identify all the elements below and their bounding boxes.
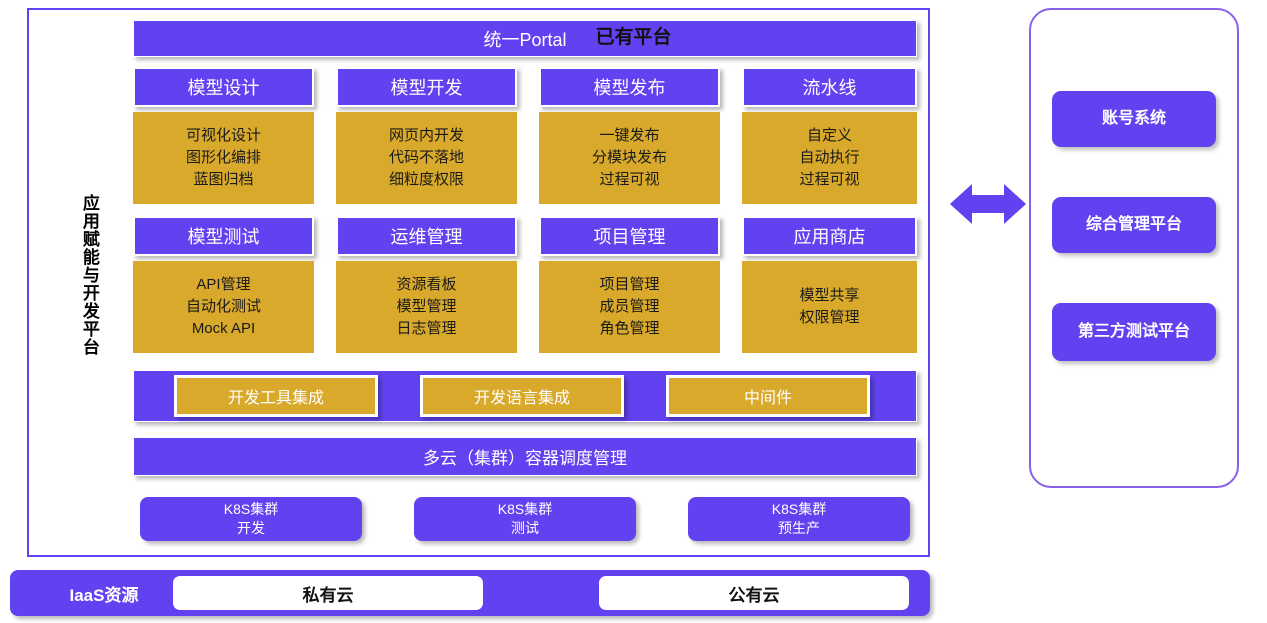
k8s-line-1: K8S集群: [772, 500, 826, 519]
public-cloud-box[interactable]: 公有云: [599, 576, 909, 610]
card-item: 成员管理: [599, 296, 659, 318]
integration-label: 中间件: [744, 384, 792, 408]
k8s-cluster-test[interactable]: K8S集群 测试: [414, 497, 636, 541]
card-header-pipeline[interactable]: 流水线: [742, 67, 917, 107]
card-header-project-mgmt[interactable]: 项目管理: [539, 216, 720, 256]
cloud-label: 私有云: [303, 581, 354, 606]
card-header-model-release[interactable]: 模型发布: [539, 67, 720, 107]
card-header-model-design[interactable]: 模型设计: [133, 67, 314, 107]
platform-label: 第三方测试平台: [1078, 322, 1190, 342]
cloud-label: 公有云: [729, 581, 780, 606]
card-item: 角色管理: [599, 318, 659, 340]
card-title: 流水线: [803, 74, 857, 100]
platform-account-system[interactable]: 账号系统: [1052, 91, 1216, 147]
integration-dev-tools[interactable]: 开发工具集成: [174, 375, 378, 417]
k8s-line-1: K8S集群: [498, 500, 552, 519]
multicloud-label: 多云（集群）容器调度管理: [423, 444, 627, 469]
iaas-label: IaaS资源: [44, 570, 164, 616]
card-item: 图形化编排: [186, 147, 261, 169]
k8s-line-2: 开发: [237, 519, 265, 538]
platform-integrated-mgmt[interactable]: 综合管理平台: [1052, 197, 1216, 253]
card-item: 分模块发布: [592, 147, 667, 169]
card-body-model-release: 一键发布 分模块发布 过程可视: [539, 112, 720, 204]
integration-label: 开发工具集成: [228, 384, 324, 408]
card-title: 应用商店: [794, 223, 866, 249]
card-item: 细粒度权限: [389, 169, 464, 191]
card-body-ops-mgmt: 资源看板 模型管理 日志管理: [336, 261, 517, 353]
double-arrow-icon: [950, 180, 1026, 228]
platform-third-party-test[interactable]: 第三方测试平台: [1052, 303, 1216, 361]
card-body-model-design: 可视化设计 图形化编排 蓝图归档: [133, 112, 314, 204]
card-item: 代码不落地: [389, 147, 464, 169]
k8s-cluster-dev[interactable]: K8S集群 开发: [140, 497, 362, 541]
card-title: 运维管理: [391, 223, 463, 249]
card-body-model-develop: 网页内开发 代码不落地 细粒度权限: [336, 112, 517, 204]
card-item: 自定义: [807, 125, 852, 147]
card-title: 模型开发: [391, 74, 463, 100]
card-body-project-mgmt: 项目管理 成员管理 角色管理: [539, 261, 720, 353]
multicloud-scheduling-bar[interactable]: 多云（集群）容器调度管理: [133, 437, 917, 476]
card-title: 模型设计: [188, 74, 260, 100]
integration-middleware[interactable]: 中间件: [666, 375, 870, 417]
card-item: 模型管理: [396, 296, 456, 318]
private-cloud-box[interactable]: 私有云: [173, 576, 483, 610]
card-body-app-store: 模型共享 权限管理: [742, 261, 917, 353]
card-header-app-store[interactable]: 应用商店: [742, 216, 917, 256]
card-item: 资源看板: [396, 274, 456, 296]
integration-label: 开发语言集成: [474, 384, 570, 408]
card-title: 模型发布: [594, 74, 666, 100]
k8s-line-1: K8S集群: [224, 500, 278, 519]
platform-label: 综合管理平台: [1086, 215, 1182, 235]
card-item: 项目管理: [599, 274, 659, 296]
card-item: 过程可视: [599, 169, 659, 191]
card-item: 自动执行: [799, 147, 859, 169]
card-item: 自动化测试: [186, 296, 261, 318]
card-body-model-test: API管理 自动化测试 Mock API: [133, 261, 314, 353]
k8s-cluster-preprod[interactable]: K8S集群 预生产: [688, 497, 910, 541]
card-body-pipeline: 自定义 自动执行 过程可视: [742, 112, 917, 204]
card-item: 可视化设计: [186, 125, 261, 147]
card-title: 模型测试: [188, 223, 260, 249]
platform-side-label: 应用赋能与开发平台: [72, 168, 106, 382]
card-header-ops-mgmt[interactable]: 运维管理: [336, 216, 517, 256]
card-item: 网页内开发: [389, 125, 464, 147]
card-item: 过程可视: [799, 169, 859, 191]
card-title: 项目管理: [594, 223, 666, 249]
card-header-model-develop[interactable]: 模型开发: [336, 67, 517, 107]
card-item: 一键发布: [599, 125, 659, 147]
platform-label: 账号系统: [1102, 109, 1166, 129]
card-item: 权限管理: [799, 307, 859, 329]
existing-platform-title: 已有平台: [0, 22, 1267, 49]
k8s-line-2: 预生产: [778, 519, 820, 538]
card-item: API管理: [196, 274, 250, 296]
k8s-line-2: 测试: [511, 519, 539, 538]
card-item: 模型共享: [799, 285, 859, 307]
card-item: 蓝图归档: [193, 169, 253, 191]
integration-dev-languages[interactable]: 开发语言集成: [420, 375, 624, 417]
card-item: Mock API: [192, 318, 255, 340]
card-header-model-test[interactable]: 模型测试: [133, 216, 314, 256]
iaas-bar: IaaS资源 私有云 公有云: [10, 570, 930, 616]
card-item: 日志管理: [396, 318, 456, 340]
